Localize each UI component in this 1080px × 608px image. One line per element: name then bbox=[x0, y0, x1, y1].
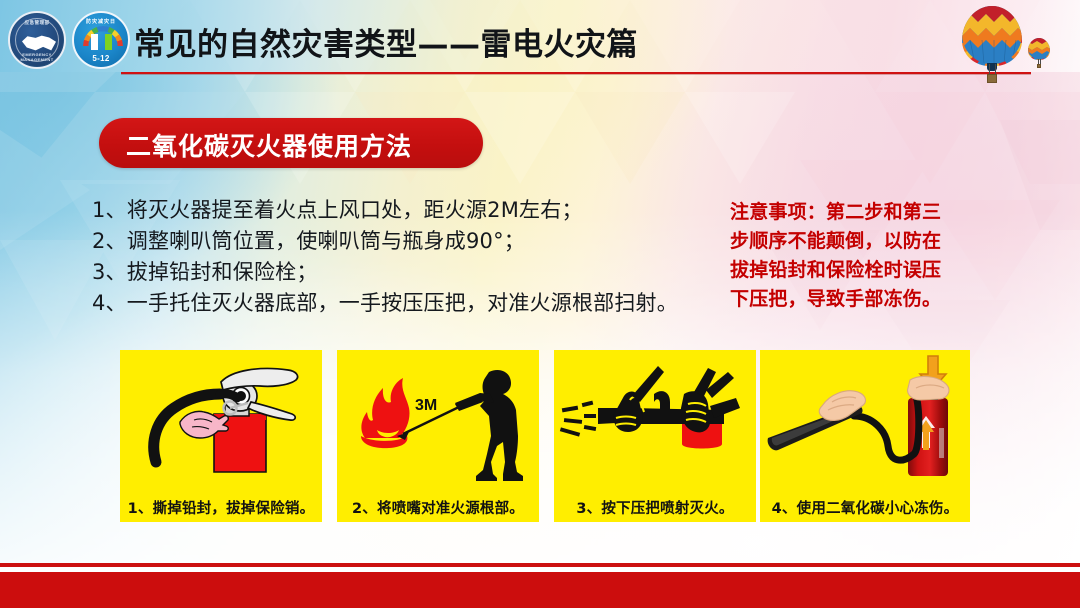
step-item: 3、拔掉铅封和保险栓； bbox=[92, 257, 732, 288]
balloon-envelope bbox=[1028, 38, 1050, 60]
step-item: 4、一手托住灭火器底部，一手按压压把，对准火源根部扫射。 bbox=[92, 288, 732, 319]
logo-512-arc-text: 防灾减灾日 bbox=[74, 18, 128, 25]
balloon-pattern bbox=[1028, 38, 1050, 60]
instruction-panel-4: 4、使用二氧化碳小心冻伤。 bbox=[760, 350, 970, 522]
step-item: 2、调整喇叭筒位置，使喇叭筒与瓶身成90°； bbox=[92, 226, 732, 257]
warning-line: 拔掉铅封和保险栓时误压 bbox=[730, 256, 995, 285]
hot-air-balloon-large-icon bbox=[962, 6, 1022, 84]
footer-bar bbox=[0, 572, 1080, 608]
person-aiming-at-fire-base-icon: 3M bbox=[337, 350, 539, 485]
logo-em-bottom-text: EMERGENCY MANAGEMENT bbox=[10, 52, 64, 62]
section-title-banner: 二氧化碳灭火器使用方法 bbox=[99, 118, 483, 168]
header-divider bbox=[121, 72, 1031, 74]
warning-note: 注意事项：第二步和第三 步顺序不能颠倒，以防在 拔掉铅封和保险栓时误压 下压把，… bbox=[730, 198, 995, 314]
hot-air-balloon-small-icon bbox=[1028, 38, 1050, 68]
steps-list: 1、将灭火器提至着火点上风口处，距火源2M左右； 2、调整喇叭筒位置，使喇叭筒与… bbox=[92, 195, 732, 319]
logo-em-top-text: 应急管理部 bbox=[10, 20, 64, 26]
figure-adult-icon bbox=[91, 34, 98, 50]
warning-line: 步顺序不能颠倒，以防在 bbox=[730, 227, 995, 256]
section-title-label: 二氧化碳灭火器使用方法 bbox=[126, 127, 412, 163]
panel-caption: 4、使用二氧化碳小心冻伤。 bbox=[760, 497, 970, 518]
warning-line: 注意事项：第二步和第三 bbox=[730, 198, 995, 227]
hand-holding-horn-nozzle-icon bbox=[760, 350, 970, 485]
balloon-basket bbox=[1037, 64, 1041, 68]
warning-line: 下压把，导致手部冻伤。 bbox=[730, 285, 995, 314]
page-title: 常见的自然灾害类型——雷电火灾篇 bbox=[134, 19, 638, 64]
balloon-basket bbox=[987, 74, 997, 83]
distance-label: 3M bbox=[415, 397, 437, 414]
hand-pulling-safety-pin-icon bbox=[120, 350, 322, 485]
rainbow-icon bbox=[83, 26, 123, 46]
instruction-panel-1: 1、撕掉铅封，拔掉保险销。 bbox=[120, 350, 322, 522]
slide-root: 应急管理部 EMERGENCY MANAGEMENT 防灾减灾日 5-12 常见… bbox=[0, 0, 1080, 608]
panel-caption: 3、按下压把喷射灭火。 bbox=[554, 497, 756, 518]
figure-child-icon bbox=[105, 34, 112, 50]
step-item: 1、将灭火器提至着火点上风口处，距火源2M左右； bbox=[92, 195, 732, 226]
hands-squeezing-lever-icon bbox=[554, 350, 756, 485]
panel-caption: 1、撕掉铅封，拔掉保险销。 bbox=[120, 497, 322, 518]
panel-caption: 2、将喷嘴对准火源根部。 bbox=[337, 497, 539, 518]
instruction-panel-3: 3、按下压把喷射灭火。 bbox=[554, 350, 756, 522]
balloon-pattern bbox=[962, 6, 1022, 66]
instruction-panels: 1、撕掉铅封，拔掉保险销。 3M 2、将喷嘴对准火源根部。 bbox=[120, 350, 962, 522]
emergency-management-logo-icon: 应急管理部 EMERGENCY MANAGEMENT bbox=[8, 11, 66, 69]
disaster-prevention-day-logo-icon: 防灾减灾日 5-12 bbox=[72, 11, 130, 69]
logo-512-number: 5-12 bbox=[74, 54, 128, 63]
instruction-panel-2: 3M 2、将喷嘴对准火源根部。 bbox=[337, 350, 539, 522]
balloon-envelope bbox=[962, 6, 1022, 66]
